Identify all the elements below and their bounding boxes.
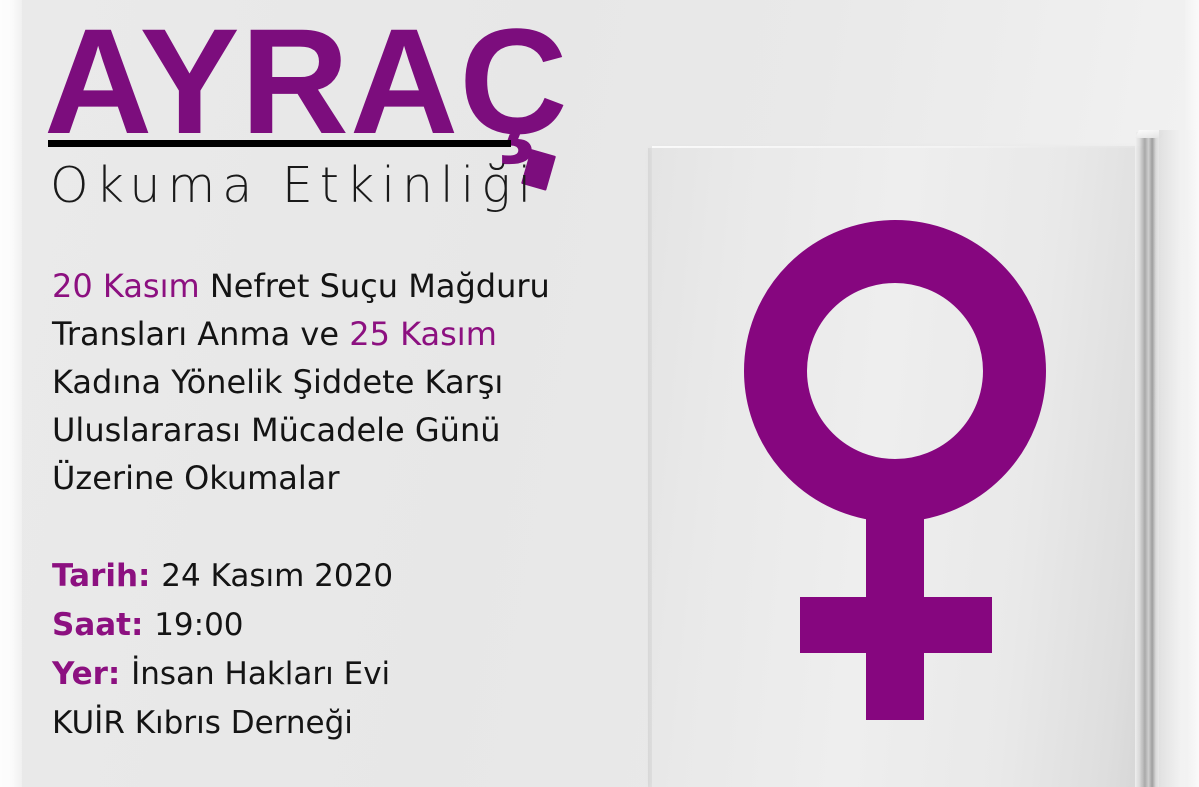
description-line-4: Uluslararası Mücadele Günü <box>52 406 612 454</box>
brand-title-underline <box>48 140 511 147</box>
detail-place-label: Yer: <box>52 656 131 692</box>
description-line-3: Kadına Yönelik Şiddete Karşı <box>52 358 612 406</box>
detail-organizer: KUİR Kıbrıs Derneği <box>52 699 612 748</box>
detail-time-label: Saat: <box>52 607 154 643</box>
event-poster: AYRAÇ Okuma Etkinliği 20 Kasım Nefret Su… <box>0 0 1199 787</box>
highlight-date-20-kasim: 20 Kasım <box>52 267 200 305</box>
description-line-1: 20 Kasım Nefret Suçu Mağduru <box>52 262 612 310</box>
book-page-edges <box>1135 132 1161 787</box>
detail-place: Yer: İnsan Hakları Evi <box>52 650 612 699</box>
detail-time: Saat: 19:00 <box>52 601 612 650</box>
description-line-2: Transları Anma ve 25 Kasım <box>52 310 612 358</box>
venus-symbol-icon <box>744 220 1046 720</box>
description-line-1-rest: Nefret Suçu Mağduru <box>200 267 550 305</box>
book-right-fade <box>1159 130 1199 787</box>
description-line-5: Üzerine Okumalar <box>52 454 612 502</box>
detail-date-label: Tarih: <box>52 558 161 594</box>
background-left-strip <box>0 0 22 787</box>
detail-date-value: 24 Kasım 2020 <box>161 558 393 594</box>
venus-circle <box>744 220 1046 522</box>
brand-title: AYRAÇ <box>44 6 569 156</box>
detail-place-value: İnsan Hakları Evi <box>131 656 390 692</box>
detail-date: Tarih: 24 Kasım 2020 <box>52 552 612 601</box>
highlight-date-25-kasim: 25 Kasım <box>349 315 497 353</box>
event-description: 20 Kasım Nefret Suçu Mağduru Transları A… <box>52 262 612 502</box>
event-details: Tarih: 24 Kasım 2020 Saat: 19:00 Yer: İn… <box>52 552 612 748</box>
description-line-2-lead: Transları Anma ve <box>52 315 349 353</box>
venus-crossbar <box>800 597 992 653</box>
brand-subtitle: Okuma Etkinliği <box>50 160 538 212</box>
detail-time-value: 19:00 <box>154 607 243 643</box>
